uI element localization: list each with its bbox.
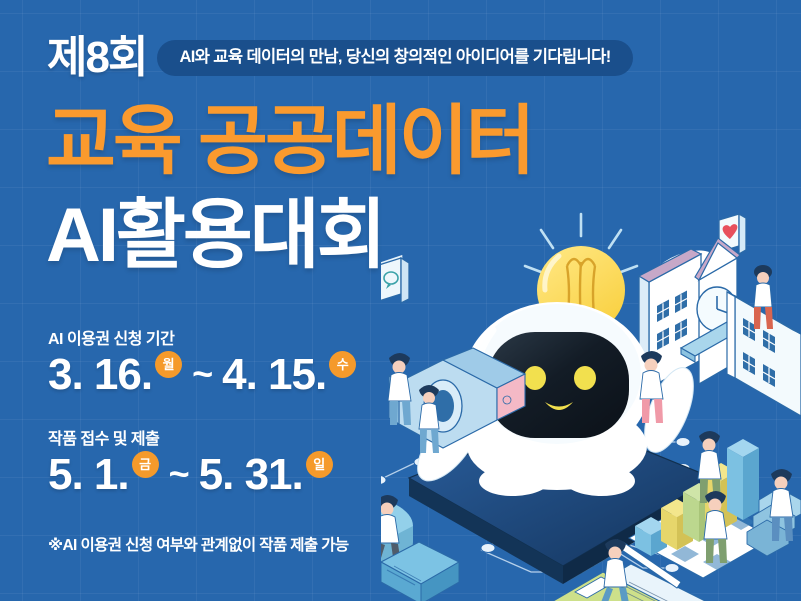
edition-number: 제8회 — [47, 36, 146, 80]
schedule-label-application: AI 이용권 신청 기간 — [48, 330, 356, 349]
end-date-application: 4. 15. — [222, 353, 326, 397]
schedule-dates-submission: 5. 1. 금 ~ 5. 31. 일 — [48, 453, 333, 497]
end-date-submission: 5. 31. — [199, 453, 303, 497]
event-poster: 제8회 AI와 교육 데이터의 만남, 당신의 창의적인 아이디어를 기다립니다… — [0, 0, 801, 601]
page-title-line-1: 교육 공공데이터 — [46, 104, 533, 180]
end-day-badge-submission: 일 — [306, 451, 333, 478]
date-separator-application: ~ — [192, 356, 213, 392]
start-date-application: 3. 16. — [48, 353, 152, 397]
bar-5 — [727, 439, 759, 520]
schedule-block-application: AI 이용권 신청 기간 3. 16. 월 ~ 4. 15. 수 — [48, 330, 356, 397]
schedule-dates-application: 3. 16. 월 ~ 4. 15. 수 — [48, 353, 356, 397]
start-day-badge-submission: 금 — [132, 451, 159, 478]
footnote-text: ※AI 이용권 신청 여부와 관계없이 작품 제출 가능 — [48, 533, 349, 555]
headline-row: 제8회 AI와 교육 데이터의 만남, 당신의 창의적인 아이디어를 기다립니다… — [47, 36, 633, 80]
schedule-block-submission: 작품 접수 및 제출 5. 1. 금 ~ 5. 31. 일 — [48, 430, 333, 497]
start-day-badge-application: 월 — [155, 351, 182, 378]
tagline-badge: AI와 교육 데이터의 만남, 당신의 창의적인 아이디어를 기다립니다! — [157, 40, 632, 77]
end-day-badge-application: 수 — [329, 351, 356, 378]
poster-text-column: 제8회 AI와 교육 데이터의 만남, 당신의 창의적인 아이디어를 기다립니다… — [0, 0, 660, 601]
schedule-label-submission: 작품 접수 및 제출 — [48, 430, 333, 449]
start-date-submission: 5. 1. — [48, 453, 129, 497]
date-separator-submission: ~ — [169, 456, 190, 492]
page-title-line-2: AI활용대회 — [46, 198, 384, 274]
